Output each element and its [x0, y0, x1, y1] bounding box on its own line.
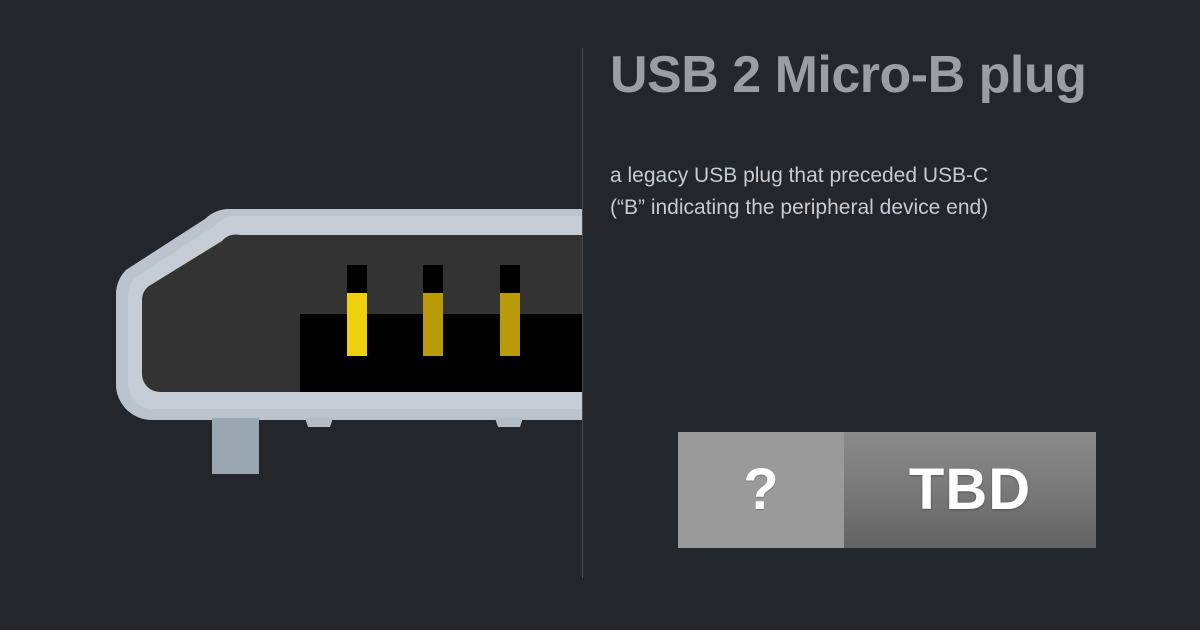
pin-3-body — [500, 293, 520, 356]
pin-1 — [347, 265, 367, 356]
question-mark-icon: ? — [743, 461, 778, 519]
pin-1-cap — [347, 265, 367, 295]
usb-micro-b-plug-illustration — [0, 0, 582, 630]
pin-3 — [500, 265, 520, 356]
status-badge-label-section: TBD — [844, 432, 1096, 548]
cable-stub — [212, 418, 259, 474]
page-description: a legacy USB plug that preceded USB-C (“… — [610, 160, 990, 224]
status-badge-icon-section: ? — [678, 432, 844, 548]
status-badge-label: TBD — [909, 461, 1031, 519]
pin-2-body — [423, 293, 443, 356]
status-badge[interactable]: ? TBD — [678, 432, 1096, 548]
page-title: USB 2 Micro-B plug — [610, 46, 1200, 106]
pin-2-cap — [423, 265, 443, 295]
pin-1-body — [347, 293, 367, 356]
latch-nub-right — [495, 418, 523, 427]
illustration-panel — [0, 0, 582, 630]
content-panel: USB 2 Micro-B plug a legacy USB plug tha… — [610, 0, 1200, 630]
vertical-divider — [582, 48, 583, 578]
latch-nub-left — [305, 418, 333, 427]
page-root: USB 2 Micro-B plug a legacy USB plug tha… — [0, 0, 1200, 630]
pin-2 — [423, 265, 443, 356]
pin-3-cap — [500, 265, 520, 295]
